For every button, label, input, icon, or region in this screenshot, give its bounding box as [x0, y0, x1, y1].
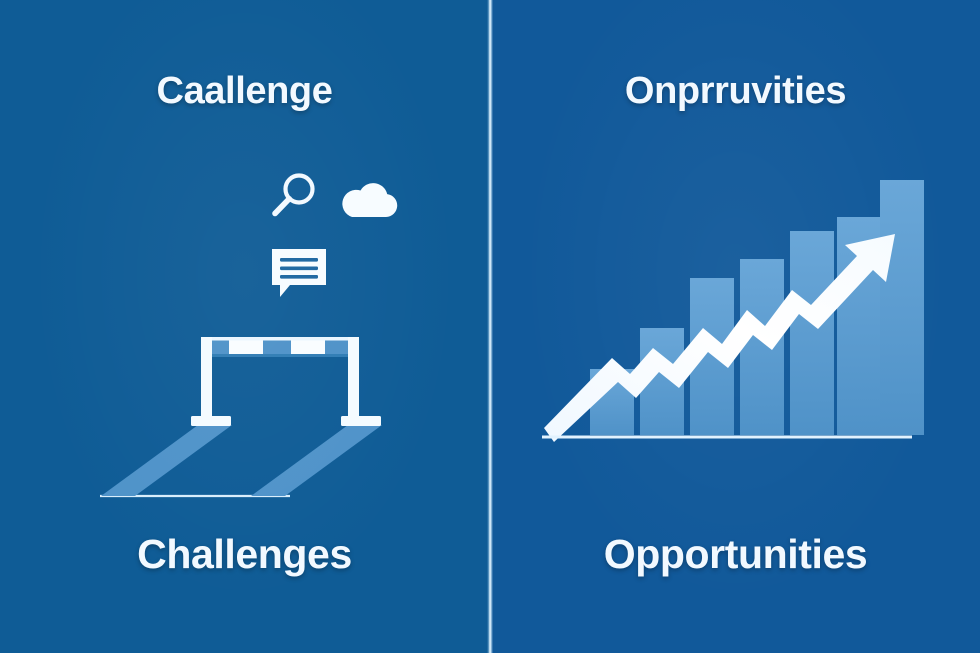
- panel-divider: [487, 0, 493, 653]
- opportunities-heading-top: Onprruvities: [491, 70, 980, 113]
- chat-bubble-icon: [268, 245, 330, 299]
- chart-bar: [790, 231, 834, 435]
- opportunities-heading-bottom: Opportunities: [491, 531, 980, 578]
- challenges-heading-bottom: Challenges: [0, 531, 489, 578]
- chart-bar: [740, 259, 784, 435]
- challenges-heading-top: Caallenge: [0, 70, 489, 113]
- cloud-icon: [338, 175, 398, 219]
- comparison-graphic: Caallenge: [0, 0, 980, 653]
- chart-bars: [590, 180, 924, 435]
- growth-chart-illustration: [540, 160, 925, 450]
- panel-challenges: Caallenge: [0, 0, 489, 653]
- chart-bar: [880, 180, 924, 435]
- hurdle-illustration: [95, 330, 395, 510]
- search-icon: [268, 170, 320, 222]
- challenge-icon-cluster: [258, 165, 408, 305]
